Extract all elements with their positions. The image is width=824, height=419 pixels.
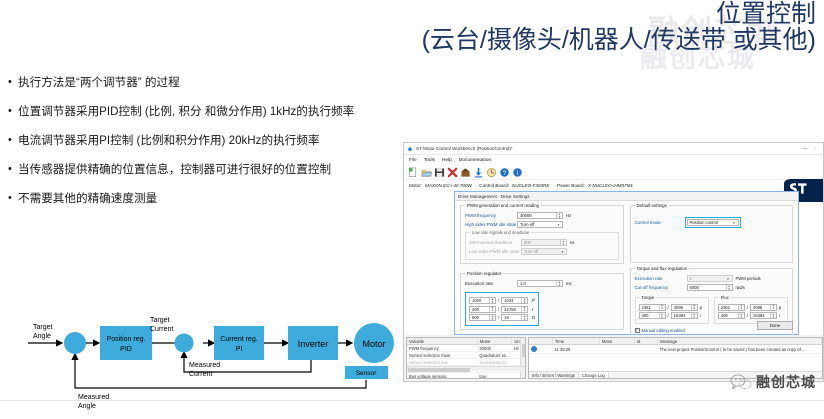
page-title-line1: 位置控制: [716, 0, 816, 28]
pwm-frequency-unit: Hz: [566, 213, 571, 218]
svg-text:Angle: Angle: [33, 333, 51, 340]
pid-i-numerator-value: 200: [472, 307, 489, 312]
pid-d-numerator-input[interactable]: 500 ▴▾: [469, 314, 496, 321]
table-row[interactable]: Sensor selection aux Sensorless (O...: [407, 359, 525, 366]
svg-text:Current: Current: [189, 371, 212, 378]
bullet-marker-icon: •: [8, 76, 18, 90]
spinner-arrows-icon[interactable]: ▴▾: [489, 315, 495, 320]
control-mode-value: Position control: [690, 220, 731, 225]
flux-i-numerator-value: 400: [721, 313, 738, 318]
control-mode-select[interactable]: Position control ▾: [687, 219, 739, 226]
control-board-label: Control Board:: [479, 183, 509, 188]
high-side-idle-select[interactable]: Turn-off ▾: [517, 221, 563, 228]
list-item: • 电流调节器采用PI控制 (比例和积分作用) 20kHz的执行频率: [8, 134, 408, 148]
flux-legend: Flux: [719, 295, 731, 300]
pwm-group-legend: PWM generation and current reading: [465, 203, 541, 208]
maximize-button[interactable]: ▫: [810, 146, 820, 152]
pid-i-numerator-input[interactable]: 200 ▴▾: [469, 306, 496, 313]
torque-p-denominator-value: 4096: [674, 305, 691, 310]
torque-p-numerator-value: 2361: [642, 305, 659, 310]
cell-motor: Sensorless (O...: [477, 359, 512, 366]
high-side-idle-value: Turn-off: [520, 222, 555, 227]
bullet-marker-icon: •: [8, 134, 18, 148]
spinner-arrows-icon[interactable]: ▴▾: [691, 313, 697, 318]
torque-legend: Torque: [640, 295, 657, 300]
pid-d-tag: D: [532, 315, 535, 320]
torque-p-tag: p: [700, 305, 702, 310]
bullet-marker-icon: •: [8, 192, 18, 206]
pid-d-denominator-input[interactable]: 16 ▴▾: [501, 314, 528, 321]
torque-flux-exec-rate-label: Execution rate: [635, 276, 687, 281]
cutoff-frequency-label: Cut-off frequency: [635, 285, 687, 290]
torque-i-numerator-value: 400: [642, 313, 659, 318]
svg-text:Angle: Angle: [78, 403, 96, 410]
svg-text:Current reg.: Current reg.: [220, 336, 257, 343]
menu-item-help[interactable]: Help: [442, 158, 452, 163]
flux-gain-row-p: 2361 ▴▾ / 4096 ▴▾ p: [718, 304, 784, 311]
cell-variable: Bus voltage sensing: [407, 373, 477, 380]
variables-pane: Variable Motor Uni PWM frequency 30000 H…: [406, 337, 526, 379]
save-project-icon[interactable]: [434, 167, 445, 178]
chevron-down-icon[interactable]: ▾: [559, 250, 566, 254]
pwm-frequency-label: PWM frequency: [465, 213, 517, 218]
tab-info-errors-warnings[interactable]: Info / Errors / Warnings: [529, 372, 579, 378]
cell-motor: 30000: [477, 345, 512, 352]
cell-variable: Sensor selection main: [407, 352, 477, 359]
minimize-button[interactable]: —: [800, 146, 810, 152]
st-mc-workbench-window: ST Motor Control Workbench (PositionCont…: [403, 142, 824, 382]
torque-flux-columns: Torque 2361 ▴▾ / 4096 ▴▾: [635, 297, 789, 324]
pwm-generation-group: PWM generation and current reading PWM f…: [460, 205, 624, 264]
flux-p-tag: p: [779, 305, 781, 310]
position-exec-rate-input[interactable]: 1.0 ▴▾: [517, 280, 563, 287]
torque-gain-row-i: 400 ▴▾ / 16384 ▴▾ i: [639, 312, 705, 319]
download-icon[interactable]: [473, 167, 484, 178]
list-item-label: 不需要其他的精确速度测量: [18, 192, 408, 206]
spinner-arrows-icon[interactable]: ▴▾: [489, 307, 495, 312]
svg-text:Position reg.: Position reg.: [107, 336, 146, 343]
pid-d-denominator-value: 16: [504, 315, 521, 320]
table-row[interactable]: Sensor selection main Quadrature en...: [407, 352, 525, 359]
pid-gains-highlight: 1000 ▴▾ / 1024 ▴▾ P 20: [465, 292, 539, 326]
variables-vertical-scrollbar[interactable]: [520, 338, 525, 378]
list-item: • 位置调节器采用PID控制 (比例, 积分 和微分作用) 1kHz的执行频率: [8, 105, 408, 119]
flux-i-tag: i: [779, 313, 780, 318]
torque-gain-row-p: 2361 ▴▾ / 4096 ▴▾ p: [639, 304, 705, 311]
pid-p-numerator-input[interactable]: 1000 ▴▾: [469, 297, 496, 304]
open-project-icon[interactable]: [421, 167, 432, 178]
deadtime-input[interactable]: 800 ▴▾: [521, 239, 567, 246]
position-exec-rate-row: Execution rate 1.0 ▴▾ ms: [465, 280, 619, 287]
control-board-value: NUCLEO-F303RE: [512, 183, 550, 188]
spinner-arrows-icon[interactable]: ▴▾: [770, 305, 776, 310]
flux-gain-row-i: 400 ▴▾ / 16384 ▴▾ i: [718, 312, 784, 319]
flux-i-slash: /: [747, 313, 748, 318]
separator-2: ·: [552, 183, 554, 188]
cutoff-frequency-row: Cut-off frequency 6000 ▴▾ rad/s: [635, 284, 789, 291]
position-exec-rate-value: 1.0: [520, 281, 556, 286]
torque-i-denominator-input[interactable]: 16384 ▴▾: [671, 312, 698, 319]
spinner-arrows-icon[interactable]: ▴▾: [770, 313, 776, 318]
position-regulator-group: Position regulator Execution rate 1.0 ▴▾…: [460, 273, 624, 330]
pid-gain-row-i: 200 ▴▾ / 32768 ▴▾ I: [469, 306, 535, 313]
list-item-label: 当传感器提供精确的位置信息，控制器可进行很好的位置控制: [18, 163, 408, 177]
menu-item-file[interactable]: File: [409, 158, 417, 163]
low-side-group: Low side signals and deadtime SW inserte…: [465, 232, 619, 260]
manual-editing-label: Manual editing enabled: [642, 328, 685, 333]
pid-p-tag: P: [532, 298, 535, 303]
dialog-left-column: PWM generation and current reading PWM f…: [460, 205, 624, 332]
control-mode-label: Control mode: [635, 220, 687, 225]
svg-text:Inverter: Inverter: [298, 339, 329, 349]
window-title: ST Motor Control Workbench (PositionCont…: [416, 146, 513, 151]
torque-i-denominator-value: 16384: [674, 313, 691, 318]
cell-motor: true: [477, 373, 512, 380]
log-info-icon: [529, 345, 552, 354]
cutoff-frequency-unit: rad/s: [736, 285, 745, 290]
power-board-value: X-NUCLEO-IHM07M1: [588, 183, 633, 188]
variables-table: Variable Motor Uni PWM frequency 30000 H…: [407, 338, 525, 379]
torque-flux-exec-rate-unit: PWM periods: [736, 276, 761, 281]
cell-time: 11:38:29: [552, 345, 599, 354]
flux-p-slash: /: [747, 305, 748, 310]
low-side-group-legend: Low side signals and deadtime: [470, 230, 531, 235]
torque-i-numerator-input[interactable]: 400 ▴▾: [639, 312, 666, 319]
torque-flux-exec-rate-select[interactable]: 1 ▾: [687, 275, 733, 282]
svg-text:Sensor: Sensor: [356, 370, 377, 377]
spinner-arrows-icon[interactable]: ▴▾: [691, 305, 697, 310]
board-info-bar: Motor: MAXON EC-i 40 700W · Control Boar…: [404, 180, 823, 191]
deadtime-unit: ns: [570, 240, 574, 245]
torque-flux-exec-rate-row: Execution rate 1 ▾ PWM periods: [635, 275, 789, 282]
list-item-label: 位置调节器采用PID控制 (比例, 积分 和微分作用) 1kHz的执行频率: [18, 105, 408, 119]
list-item-label: 电流调节器采用PI控制 (比例和积分作用) 20kHz的执行频率: [18, 134, 408, 148]
pid-gain-row-p: 1000 ▴▾ / 1024 ▴▾ P: [469, 297, 535, 304]
svg-text:?: ?: [503, 169, 507, 176]
low-side-idle-value: Turn-off: [524, 249, 559, 254]
wechat-icon: [730, 373, 752, 391]
spinner-arrows-icon[interactable]: ▴▾: [726, 285, 732, 290]
cutoff-frequency-value: 6000: [690, 285, 726, 290]
spinner-arrows-icon[interactable]: ▴▾: [521, 315, 527, 320]
help-icon[interactable]: ?: [499, 167, 510, 178]
list-item: • 执行方法是“两个调节器” 的过程: [8, 76, 408, 90]
pid-i-denominator-input[interactable]: 32768 ▴▾: [501, 306, 528, 313]
flux-p-denominator-input[interactable]: 4096 ▴▾: [750, 304, 777, 311]
pid-d-numerator-value: 500: [472, 315, 489, 320]
cell-message: The new project PositionControl ( to be …: [658, 345, 822, 354]
flux-i-numerator-input[interactable]: 400 ▴▾: [718, 312, 745, 319]
log-table: Time Motor Id Message 11:38:29 The new p…: [529, 338, 822, 354]
list-item-label: 执行方法是“两个调节器” 的过程: [18, 76, 408, 90]
pwm-frequency-row: PWM frequency 30000 ▴▾ Hz: [465, 212, 619, 219]
window-titlebar: ST Motor Control Workbench (PositionCont…: [404, 143, 823, 155]
control-mode-row: Control mode Position control ▾: [635, 219, 789, 226]
app-logo-icon: [407, 146, 413, 152]
pid-p-slash: /: [498, 298, 499, 303]
checkbox-checked-icon[interactable]: ✓: [635, 328, 640, 333]
new-project-icon[interactable]: [408, 167, 419, 178]
flux-p-numerator-value: 2361: [721, 305, 738, 310]
power-board-label: Power Board:: [557, 183, 585, 188]
svg-text:Measured: Measured: [189, 362, 220, 369]
cell-motor: [599, 345, 634, 354]
table-row[interactable]: Bus voltage sensing true: [407, 373, 525, 380]
page-title: 位置控制 (云台/摄像头/机器人/传送带 或其他): [0, 0, 816, 54]
variables-horizontal-scrollbar[interactable]: [407, 366, 525, 371]
svg-text:Current: Current: [150, 326, 173, 333]
cell-variable: PWM frequency: [407, 345, 477, 352]
dialog-title: Drive Management - Drive Settings: [455, 192, 798, 201]
drive-settings-dialog: Drive Management - Drive Settings PWM ge…: [454, 191, 799, 335]
toolbar: ? i: [404, 165, 823, 180]
flux-subgroup: Flux 2361 ▴▾ / 4096 ▴▾: [714, 297, 788, 324]
delete-icon[interactable]: [447, 167, 458, 178]
bullet-marker-icon: •: [8, 105, 18, 119]
position-exec-rate-label: Execution rate: [465, 281, 517, 286]
generate-icon[interactable]: [486, 167, 497, 178]
package-icon[interactable]: [460, 167, 471, 178]
torque-p-denominator-input[interactable]: 4096 ▴▾: [671, 304, 698, 311]
page-title-line2: (云台/摄像头/机器人/传送带 或其他): [0, 26, 816, 54]
bottom-divider: [0, 400, 824, 401]
spinner-arrows-icon[interactable]: ▴▾: [556, 281, 562, 286]
high-side-idle-label: High sides PWM idle state: [465, 222, 517, 227]
pid-p-denominator-value: 1024: [504, 298, 521, 303]
cell-motor: Quadrature en...: [477, 352, 512, 359]
svg-text:i: i: [517, 169, 519, 177]
flux-i-denominator-input[interactable]: 16384 ▴▾: [750, 312, 777, 319]
spinner-arrows-icon[interactable]: ▴▾: [521, 298, 527, 303]
torque-flux-legend: Torque and flux regulation: [635, 266, 690, 271]
torque-i-tag: i: [700, 313, 701, 318]
position-regulator-legend: Position regulator: [465, 271, 503, 276]
bullet-marker-icon: •: [8, 163, 18, 177]
torque-p-slash: /: [668, 305, 669, 310]
control-loop-diagram: Position reg. PID Current reg. PI Invert…: [0, 300, 400, 419]
spinner-arrows-icon[interactable]: ▴▾: [489, 298, 495, 303]
torque-p-numerator-input[interactable]: 2361 ▴▾: [639, 304, 666, 311]
list-item: • 当传感器提供精确的位置信息，控制器可进行很好的位置控制: [8, 163, 408, 177]
pwm-frequency-input[interactable]: 30000 ▴▾: [517, 212, 563, 219]
cutoff-frequency-input[interactable]: 6000 ▴▾: [687, 284, 733, 291]
chevron-down-icon[interactable]: ▾: [731, 221, 738, 225]
scrollbar-thumb[interactable]: [408, 368, 470, 372]
pid-gain-row-d: 500 ▴▾ / 16 ▴▾ D: [469, 314, 535, 321]
motor-label: Motor:: [409, 183, 422, 188]
brand-label: 融创芯城: [756, 372, 816, 392]
torque-i-slash: /: [668, 313, 669, 318]
svg-text:Target: Target: [150, 317, 170, 324]
default-settings-legend: Default settings: [635, 203, 669, 208]
low-side-idle-select[interactable]: Turn-off ▾: [521, 248, 567, 255]
pid-i-tag: I: [532, 307, 533, 312]
spinner-arrows-icon[interactable]: ▴▾: [738, 313, 744, 318]
chevron-down-icon[interactable]: ▾: [725, 277, 732, 281]
svg-text:Target: Target: [33, 324, 53, 331]
torque-subgroup: Torque 2361 ▴▾ / 4096 ▴▾: [635, 297, 709, 324]
chevron-down-icon[interactable]: ▾: [555, 223, 562, 227]
table-row[interactable]: 11:38:29 The new project PositionControl…: [529, 345, 822, 354]
low-side-idle-label: Low sides PWM idle state: [469, 249, 521, 254]
tab-change-log[interactable]: Change Log: [579, 372, 609, 378]
svg-text:Motor: Motor: [362, 339, 385, 349]
svg-text:PI: PI: [236, 346, 243, 353]
flux-i-denominator-value: 16384: [753, 313, 770, 318]
low-side-idle-row: Low sides PWM idle state Turn-off ▾: [469, 248, 615, 255]
spinner-arrows-icon[interactable]: ▴▾: [659, 305, 665, 310]
separator-1: ·: [475, 183, 477, 188]
high-side-idle-row: High sides PWM idle state Turn-off ▾: [465, 221, 619, 228]
position-exec-rate-unit: ms: [566, 281, 572, 286]
flux-p-numerator-input[interactable]: 2361 ▴▾: [718, 304, 745, 311]
about-icon[interactable]: i: [512, 167, 523, 178]
spinner-arrows-icon[interactable]: ▴▾: [738, 305, 744, 310]
motor-value: MAXON EC-i 40 700W: [425, 183, 472, 188]
done-button[interactable]: Done: [757, 321, 793, 330]
dialog-right-column: Default settings Control mode Position c…: [630, 205, 794, 332]
pid-p-denominator-input[interactable]: 1024 ▴▾: [501, 297, 528, 304]
dialog-body: PWM generation and current reading PWM f…: [455, 201, 798, 336]
spinner-arrows-icon[interactable]: ▴▾: [521, 307, 527, 312]
spinner-arrows-icon[interactable]: ▴▾: [560, 240, 566, 245]
menu-item-documentation[interactable]: Documentation: [459, 158, 491, 163]
deadtime-label: SW inserted deadtime: [469, 240, 521, 245]
deadtime-row: SW inserted deadtime 800 ▴▾ ns: [469, 239, 615, 246]
cell-id: [634, 345, 657, 354]
bullet-list: • 执行方法是“两个调节器” 的过程 • 位置调节器采用PID控制 (比例, 积…: [8, 76, 408, 221]
pid-p-numerator-value: 1000: [472, 298, 489, 303]
pid-i-denominator-value: 32768: [504, 307, 521, 312]
pwm-frequency-value: 30000: [520, 213, 556, 218]
deadtime-value: 800: [524, 240, 560, 245]
menubar: File Tools Help Documentation: [404, 155, 823, 165]
torque-flux-exec-rate-value: 1: [690, 276, 725, 281]
cell-variable: Sensor selection aux: [407, 359, 477, 366]
scrollbar-thumb[interactable]: [522, 344, 526, 357]
pid-i-slash: /: [498, 307, 499, 312]
list-item: • 不需要其他的精确速度测量: [8, 192, 408, 206]
flux-p-denominator-value: 4096: [753, 305, 770, 310]
menu-item-tools[interactable]: Tools: [424, 158, 435, 163]
brand-watermark: 融创芯城: [730, 372, 816, 392]
default-settings-group: Default settings Control mode Position c…: [630, 205, 794, 263]
svg-text:PID: PID: [120, 346, 132, 353]
spinner-arrows-icon[interactable]: ▴▾: [556, 213, 562, 218]
table-row[interactable]: PWM frequency 30000 Hz: [407, 345, 525, 352]
pid-d-slash: /: [498, 315, 499, 320]
spinner-arrows-icon[interactable]: ▴▾: [659, 313, 665, 318]
